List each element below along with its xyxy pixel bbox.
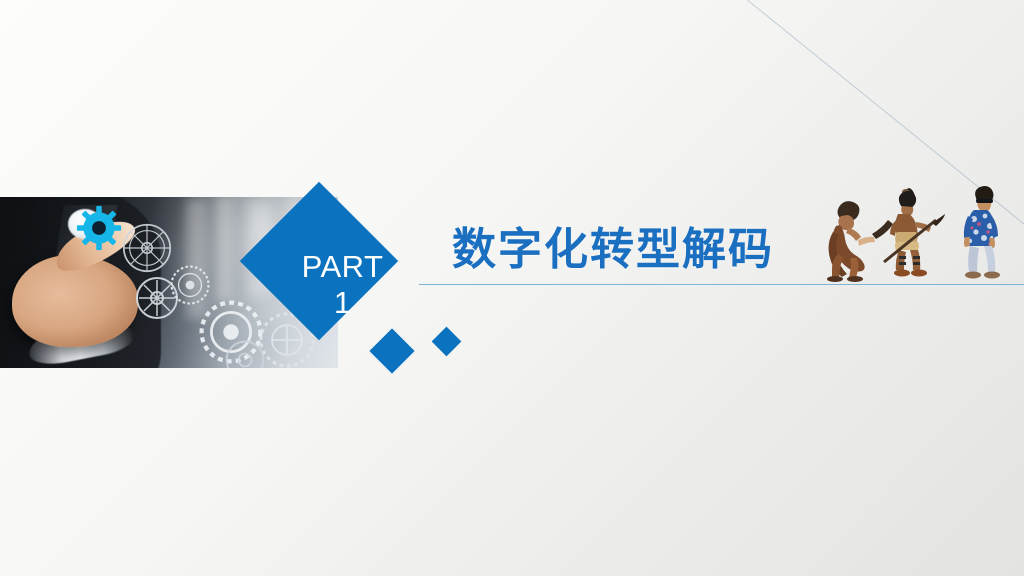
caveman-with-club (827, 201, 893, 282)
slide-canvas: PART 1 数字化转型解码 (0, 0, 1024, 576)
modern-man-floral-shirt (964, 186, 1000, 279)
photo-window-bar (216, 197, 232, 301)
human-evolution-figures (818, 186, 1024, 286)
diagonal-hairline (599, 0, 1024, 359)
cyan-gear-icon (76, 205, 122, 251)
accent-diamond-small (432, 327, 462, 357)
tribal-warrior-with-spear (884, 188, 945, 277)
gear-outline-icon (222, 337, 268, 368)
accent-diamond-large (369, 328, 414, 373)
page-title: 数字化转型解码 (452, 213, 774, 277)
